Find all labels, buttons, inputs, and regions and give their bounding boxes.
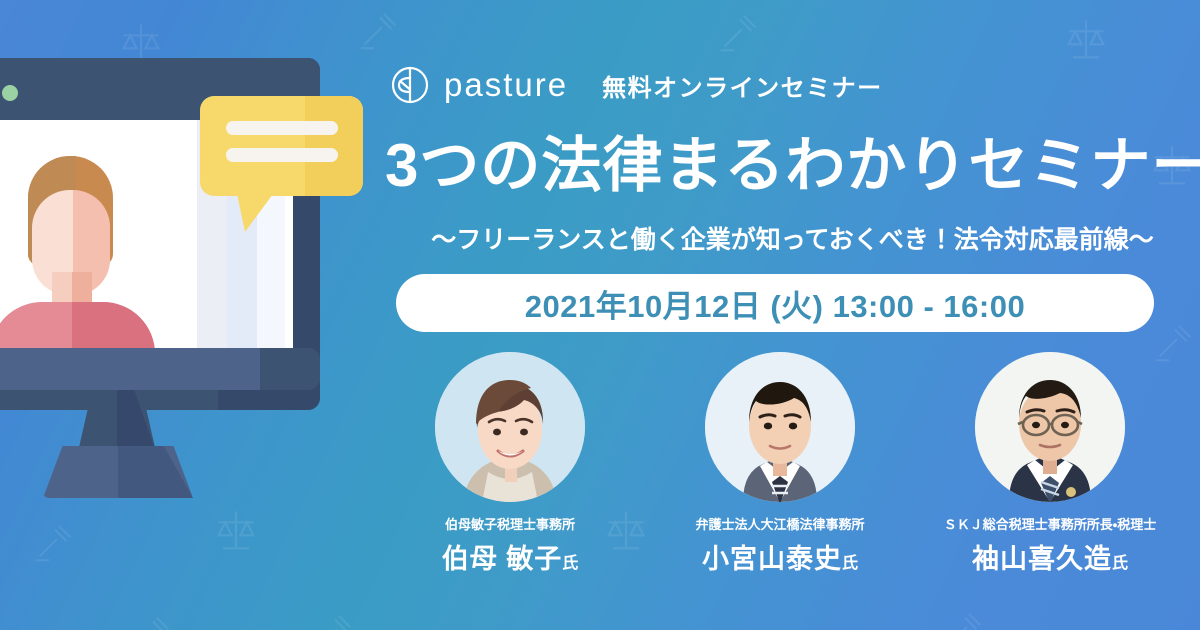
speaker-org: 弁護士法人大江橋法律事務所: [695, 514, 864, 533]
speaker-card: 伯母敏子税理士事務所 伯母 敏子氏: [385, 352, 635, 576]
speaker-card: ＳＫＪ総合税理士事務所所長・税理士 袖山喜久造氏: [925, 352, 1175, 576]
chat-bubble-line: [226, 121, 338, 135]
brand-header: pasture 無料オンラインセミナー: [390, 65, 883, 105]
page-title: 3つの法律まるわかりセミナー: [0, 134, 1200, 199]
gavel-watermark: [128, 612, 174, 630]
seminar-banner: pasture 無料オンラインセミナー 3つの法律まるわかりセミナー 〜フリーラ…: [0, 0, 1200, 630]
avatar: [435, 352, 585, 502]
gavel-watermark: [355, 8, 401, 54]
speaker-name-text: 伯母 敏子: [442, 544, 563, 574]
speaker-honorific: 氏: [1112, 555, 1128, 572]
speaker-honorific: 氏: [842, 555, 858, 572]
seminar-kicker: 無料オンラインセミナー: [602, 68, 883, 103]
speaker-card: 弁護士法人大江橋法律事務所 小宮山泰史氏: [655, 352, 905, 576]
gavel-watermark: [310, 610, 356, 630]
pasture-leaf-circle-icon: [390, 65, 430, 105]
speaker-portrait-man-suit-striped-tie: [705, 352, 855, 502]
avatar: [975, 352, 1125, 502]
avatar: [705, 352, 855, 502]
speaker-name: 袖山喜久造氏: [972, 537, 1128, 576]
speakers-row: 伯母敏子税理士事務所 伯母 敏子氏: [385, 352, 1175, 576]
gavel-watermark: [715, 10, 761, 56]
speaker-org: 伯母敏子税理士事務所: [445, 514, 575, 533]
page-subtitle: 〜フリーランスと働く企業が知っておくべき！法令対応最前線〜: [0, 220, 1200, 256]
gavel-watermark: [940, 608, 986, 630]
speaker-portrait-woman-short-hair: [435, 352, 585, 502]
date-text: 2021年10月12日 (火) 13:00 - 16:00: [525, 281, 1025, 326]
online-meeting-illustration: [0, 58, 380, 558]
speaker-name: 小宮山泰史氏: [702, 537, 858, 576]
window-dot-green-icon: [2, 85, 18, 101]
scales-of-justice-watermark: [1060, 14, 1112, 66]
speaker-portrait-man-glasses-dark-suit: [975, 352, 1125, 502]
speaker-org: ＳＫＪ総合税理士事務所所長・税理士: [944, 514, 1156, 533]
logo-wordmark: pasture: [444, 66, 568, 104]
speaker-name-text: 袖山喜久造: [972, 544, 1112, 574]
speaker-name: 伯母 敏子氏: [442, 537, 579, 576]
speaker-honorific: 氏: [562, 555, 578, 572]
monitor-bottom-bezel-shade: [260, 348, 320, 390]
speaker-name-text: 小宮山泰史: [702, 544, 842, 574]
pasture-logo: pasture: [390, 65, 568, 105]
avatar-torso-shade: [72, 302, 155, 348]
date-badge: 2021年10月12日 (火) 13:00 - 16:00: [396, 274, 1154, 332]
